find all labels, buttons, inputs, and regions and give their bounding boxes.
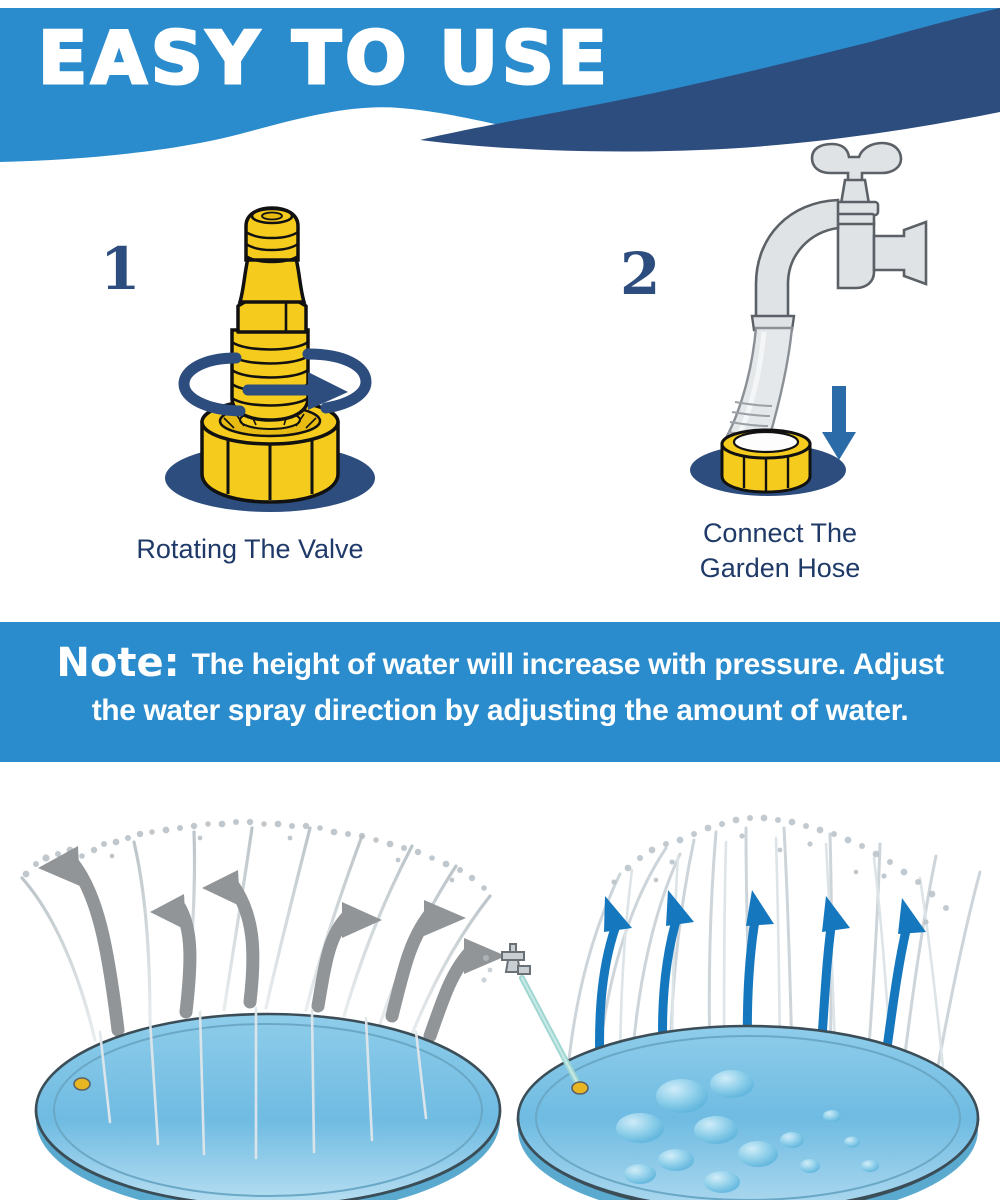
step-2-caption: Connect The Garden Hose bbox=[630, 516, 930, 585]
bottom-illustrations bbox=[0, 762, 1000, 1200]
down-arrow bbox=[822, 386, 856, 460]
splash-pad-upward-spray bbox=[480, 762, 1000, 1200]
hose-connector-valve-icon bbox=[140, 202, 400, 522]
step-1-caption: Rotating The Valve bbox=[50, 532, 450, 567]
step-2-number: 2 bbox=[620, 245, 660, 303]
splash-pad-outward-spray bbox=[0, 762, 540, 1200]
note-text-line-2: the water spray direction by adjusting t… bbox=[28, 689, 972, 733]
step-2-caption-line-1: Connect The bbox=[703, 518, 857, 548]
note-text-line-1: The height of water will increase with p… bbox=[192, 648, 944, 681]
note-banner: Note:The height of water will increase w… bbox=[0, 622, 1000, 762]
faucet-with-hose-icon bbox=[660, 132, 960, 512]
page-title: EASY TO USE bbox=[38, 22, 611, 94]
step-1-number: 1 bbox=[100, 240, 140, 298]
steps-section: 1 bbox=[0, 180, 1000, 620]
note-label: Note: bbox=[56, 640, 179, 686]
step-2-caption-line-2: Garden Hose bbox=[700, 553, 861, 583]
